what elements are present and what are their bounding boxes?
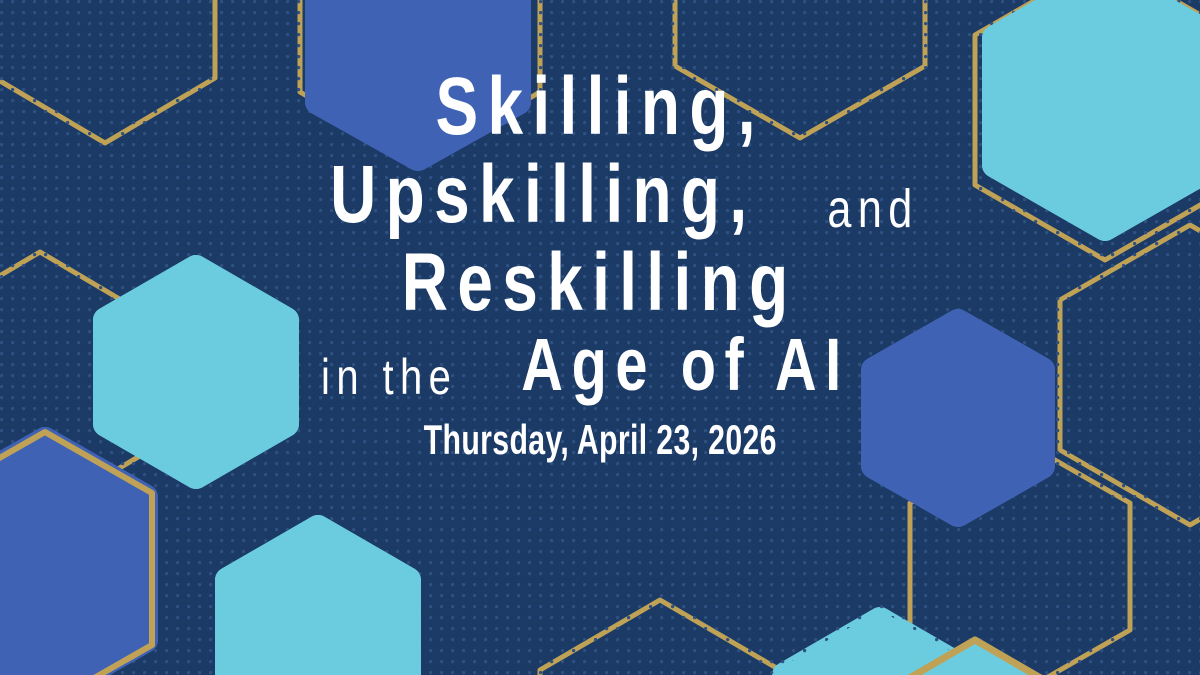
title-line-2-light: and (828, 182, 919, 236)
title-line-4-light: in the (321, 352, 457, 402)
title-line-2: Upskilling, and (270, 154, 931, 236)
title-line-4: in the Age of AI (304, 328, 895, 402)
title-line-4-bold: Age of AI (521, 328, 849, 402)
event-date: Thursday, April 23, 2026 (423, 416, 776, 464)
title-line-1: Skilling, (435, 66, 764, 148)
title-block: Skilling, Upskilling, and Reskilling in … (0, 0, 1200, 675)
title-line-3: Reskilling (402, 242, 798, 324)
event-banner: Skilling, Upskilling, and Reskilling in … (0, 0, 1200, 675)
title-line-2-bold: Upskilling, (330, 154, 756, 236)
